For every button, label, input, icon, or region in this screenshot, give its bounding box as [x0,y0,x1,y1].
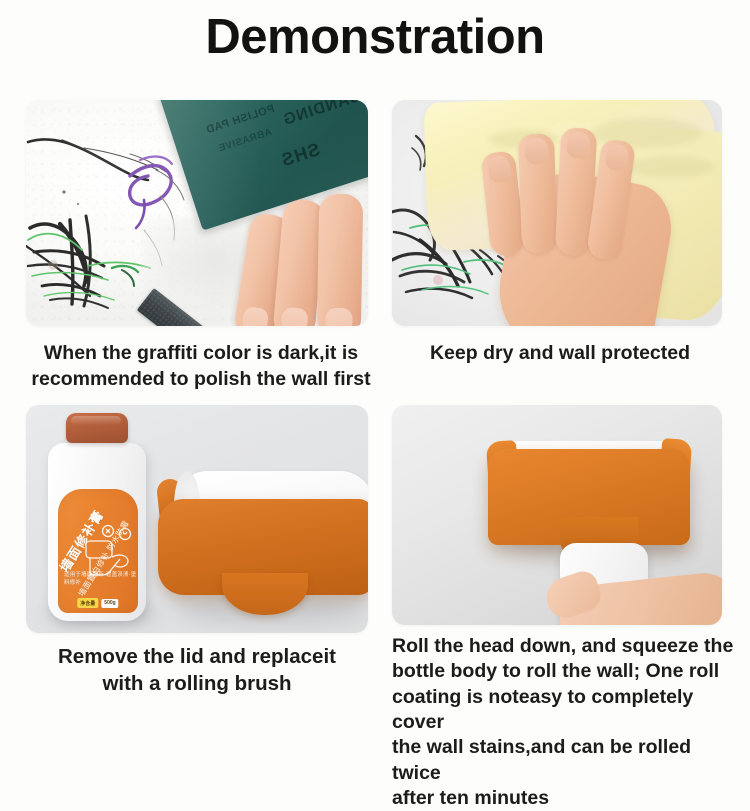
step-1-caption: When the graffiti color is dark,it is re… [26,340,376,392]
bottle-label: 墙面修补膏 墙面置白修补 防水防霉 适用于墙面翻新·遮盖涢渍·塗料修补 净含量 … [58,489,138,613]
fingernail [525,138,549,165]
caption-line: Roll the head down, and squeeze the [392,634,740,659]
step-4-photo [392,405,722,625]
fingernail [280,307,308,326]
finger [518,133,558,254]
caption-line: with a rolling brush [22,670,372,697]
caption-line: Keep dry and wall protected [392,340,728,366]
fingernail [487,155,511,183]
bottle-cap [66,413,128,443]
fingernail [325,308,353,326]
step-1-photo: DETAOU SANDING SHS POLISH PAD ABRASIVE [26,100,368,326]
caption-line: after ten minutes [392,786,740,811]
caption-line: bottle body to roll the wall; One roll [392,659,740,684]
step-3-photo: 墙面修补膏 墙面置白修补 防水防霉 适用于墙面翻新·遮盖涢渍·塗料修补 净含量 … [26,405,368,633]
hand [542,557,722,625]
caption-line: coating is noteasy to completely cover [392,685,740,736]
caption-line: When the graffiti color is dark,it is [26,340,376,366]
label-badge-right: 500g [101,599,118,608]
label-badges: 净含量 500g [77,598,118,608]
product-bottle: 墙面修补膏 墙面置白修补 防水防霉 适用于墙面翻新·遮盖涢渍·塗料修补 净含量 … [48,443,146,621]
finger [317,194,364,326]
caption-line: the wall stains,and can be rolled twice [392,735,740,786]
step-3-caption: Remove the lid and replaceit with a roll… [22,643,372,698]
page-title: Demonstration [0,12,750,63]
fingernail [566,131,590,158]
caption-line: Remove the lid and replaceit [22,643,372,670]
step-2-caption: Keep dry and wall protected [392,340,728,366]
fingernail [241,306,270,326]
demonstration-page: Demonstration [0,0,750,750]
label-fineprint: 适用于墙面翻新·遮盖涢渍·塗料修补 [64,571,138,588]
step-4-caption: Roll the head down, and squeeze the bott… [392,634,740,811]
step-2-photo [392,100,722,326]
hand [236,192,368,326]
hand [476,124,666,326]
label-badge-left: 净含量 [77,598,98,608]
caption-line: recommended to polish the wall first [26,366,376,392]
fingernail [604,143,629,172]
